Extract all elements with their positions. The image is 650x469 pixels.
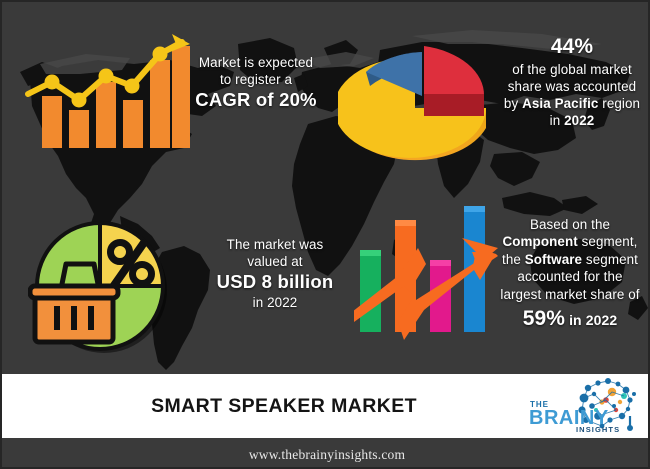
pie-slice-red xyxy=(424,46,484,96)
segment-name: Component xyxy=(503,234,578,249)
regional-line-1: of the global market xyxy=(494,61,650,78)
segment-line-3: the Software segment xyxy=(490,251,650,268)
segment-line-1: Based on the xyxy=(490,216,650,233)
logo-insights: INSIGHTS xyxy=(576,425,620,434)
bar-4 xyxy=(123,100,143,148)
segment-line-5: largest market share of xyxy=(490,286,650,303)
regional-line-4: in 2022 xyxy=(494,112,650,129)
cagr-line-2: to register a xyxy=(178,71,334,88)
market-value-text: The market was valued at USD 8 billion i… xyxy=(194,236,356,311)
url-bar: www.thebrainyinsights.com xyxy=(2,438,650,469)
segment-line-4: accounted for the xyxy=(490,268,650,285)
growth-bar-line-chart xyxy=(24,28,190,153)
infographic-canvas: Market is expected to register a CAGR of… xyxy=(0,0,650,469)
regional-share-value: 44% xyxy=(494,34,650,61)
region-name: Asia Pacific xyxy=(522,96,598,111)
cagr-stat-text: Market is expected to register a CAGR of… xyxy=(178,54,334,112)
regional-line-3: by Asia Pacific region xyxy=(494,95,650,112)
segment-year: in 2022 xyxy=(565,312,617,328)
value-highlight: USD 8 billion xyxy=(194,270,356,294)
segment-value: 59% xyxy=(523,307,565,330)
page-title: SMART SPEAKER MARKET xyxy=(2,395,526,418)
trend-point xyxy=(72,93,87,108)
title-bar: SMART SPEAKER MARKET xyxy=(2,374,650,438)
bar-2 xyxy=(69,110,89,148)
site-url[interactable]: www.thebrainyinsights.com xyxy=(249,447,405,463)
sub-segment-name: Software xyxy=(525,252,582,267)
cagr-highlight: CAGR of 20% xyxy=(178,88,334,112)
value-line-4: in 2022 xyxy=(194,294,356,311)
segment-value-line: 59% in 2022 xyxy=(490,305,650,332)
market-value-pie xyxy=(28,214,178,364)
bar-1 xyxy=(42,96,62,148)
trend-point xyxy=(45,75,60,90)
component-segment-text: Based on the Component segment, the Soft… xyxy=(490,216,650,332)
bar-3 xyxy=(96,82,116,148)
trend-point xyxy=(99,69,114,84)
regional-share-pie xyxy=(338,20,508,175)
region-year: 2022 xyxy=(564,113,594,128)
bar-5 xyxy=(150,60,170,148)
segment-line-2: Component segment, xyxy=(490,233,650,250)
trend-point xyxy=(125,79,140,94)
value-line-1: The market was xyxy=(194,236,356,253)
component-segment-chart xyxy=(354,202,500,352)
brainy-insights-logo[interactable]: THE BRAINY INSIGHTS xyxy=(526,376,646,436)
regional-line-2: share was accounted xyxy=(494,78,650,95)
pie-slice-red-front xyxy=(424,94,484,116)
value-line-2: valued at xyxy=(194,253,356,270)
trend-point xyxy=(153,47,168,62)
regional-share-text: 44% of the global market share was accou… xyxy=(494,34,650,130)
cagr-line-1: Market is expected xyxy=(178,54,334,71)
